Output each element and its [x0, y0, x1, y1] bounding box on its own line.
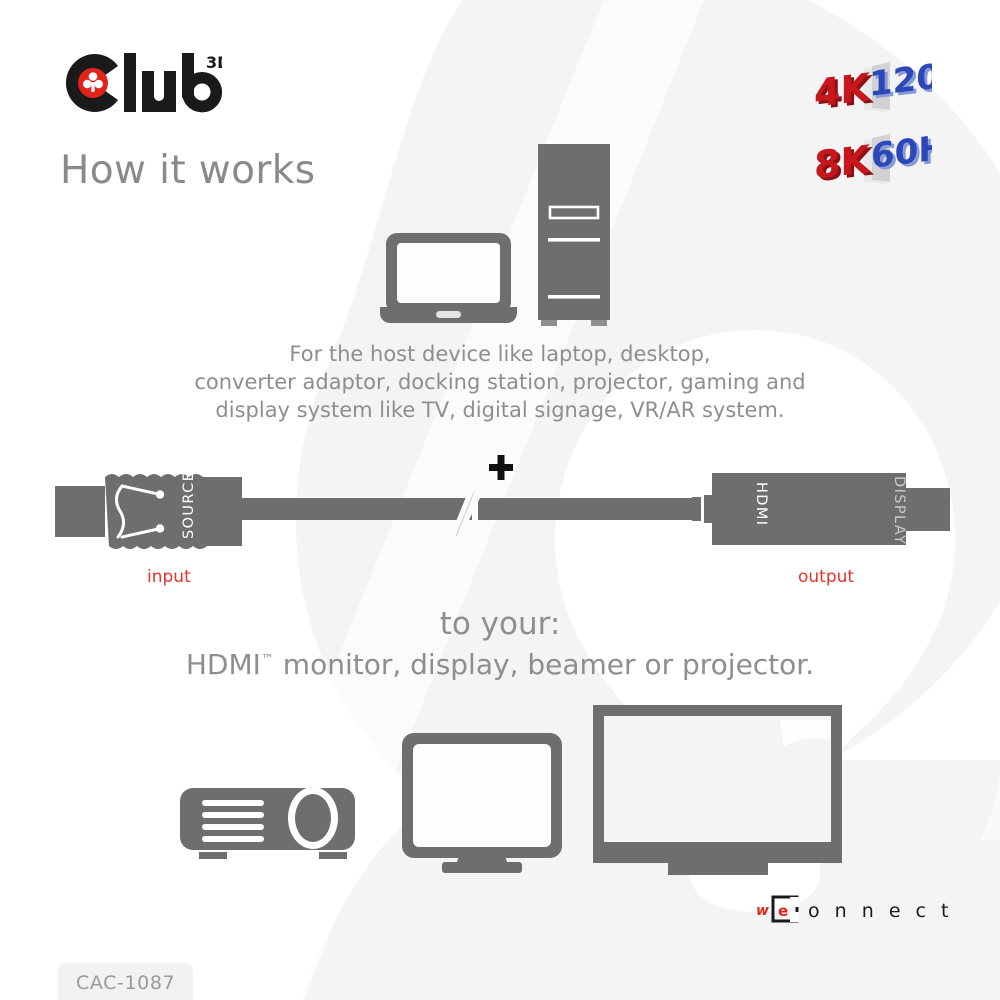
source-connector: SOURCE	[55, 471, 242, 549]
input-label: input	[147, 567, 191, 587]
badge-4k-refresh: 120Hz	[869, 60, 932, 105]
badge-4k-resolution: 4K	[814, 65, 871, 116]
output-description: HDMI™ monitor, display, beamer or projec…	[0, 648, 1000, 681]
weconnect-logo: w e o n n e c t	[756, 893, 956, 931]
output-device-icons	[170, 695, 850, 879]
desktop-tower-icon	[538, 144, 610, 326]
output-heading: to your:	[0, 606, 1000, 642]
display-connector-text: DISPLAY	[891, 476, 907, 545]
output-label: output	[798, 567, 854, 587]
output-description-hdmi: HDMI	[186, 648, 261, 681]
source-connector-text: SOURCE	[181, 471, 197, 539]
club3d-logo: 3D	[62, 52, 222, 118]
cable-segment-right	[478, 498, 693, 520]
logo-l-letter	[124, 53, 136, 112]
host-device-icons	[380, 135, 640, 339]
model-number-badge: CAC-1087	[58, 963, 193, 1000]
badge-4k-120hz: 120Hz 120Hz 4K 4K	[812, 60, 932, 124]
trademark-symbol: ™	[261, 653, 274, 668]
badge-8k-refresh: 60Hz	[871, 132, 932, 177]
weconnect-w: w	[756, 903, 769, 919]
weconnect-rest: o n n e c t	[808, 900, 953, 922]
laptop-icon	[380, 233, 517, 323]
plus-icon	[489, 455, 513, 480]
tv-icon	[593, 705, 842, 875]
badge-8k-resolution: 8K	[814, 137, 871, 188]
weconnect-e: e	[778, 902, 788, 920]
host-description: For the host device like laptop, desktop…	[0, 340, 1000, 424]
monitor-icon	[402, 733, 562, 873]
projector-icon	[180, 787, 355, 859]
hdmi-connector-text: HDMI	[753, 482, 769, 526]
output-description-rest: monitor, display, beamer or projector.	[274, 648, 814, 681]
host-description-line-1: For the host device like laptop, desktop…	[0, 340, 1000, 368]
host-description-line-2: converter adaptor, docking station, proj…	[0, 368, 1000, 396]
logo-3d-superscript: 3D	[206, 53, 222, 72]
hdmi-display-connector: HDMI DISPLAY	[681, 473, 950, 545]
page-title: How it works	[60, 148, 316, 193]
cable-segment-left	[242, 498, 472, 520]
host-description-line-3: display system like TV, digital signage,…	[0, 396, 1000, 424]
badge-8k-60hz: 60Hz 60Hz 8K 8K	[812, 132, 932, 196]
product-infographic-page: 3D How it works 120Hz 120Hz 4K 4K 60Hz 6…	[0, 0, 1000, 1000]
cable-diagram: SOURCE HDM	[0, 450, 1000, 574]
